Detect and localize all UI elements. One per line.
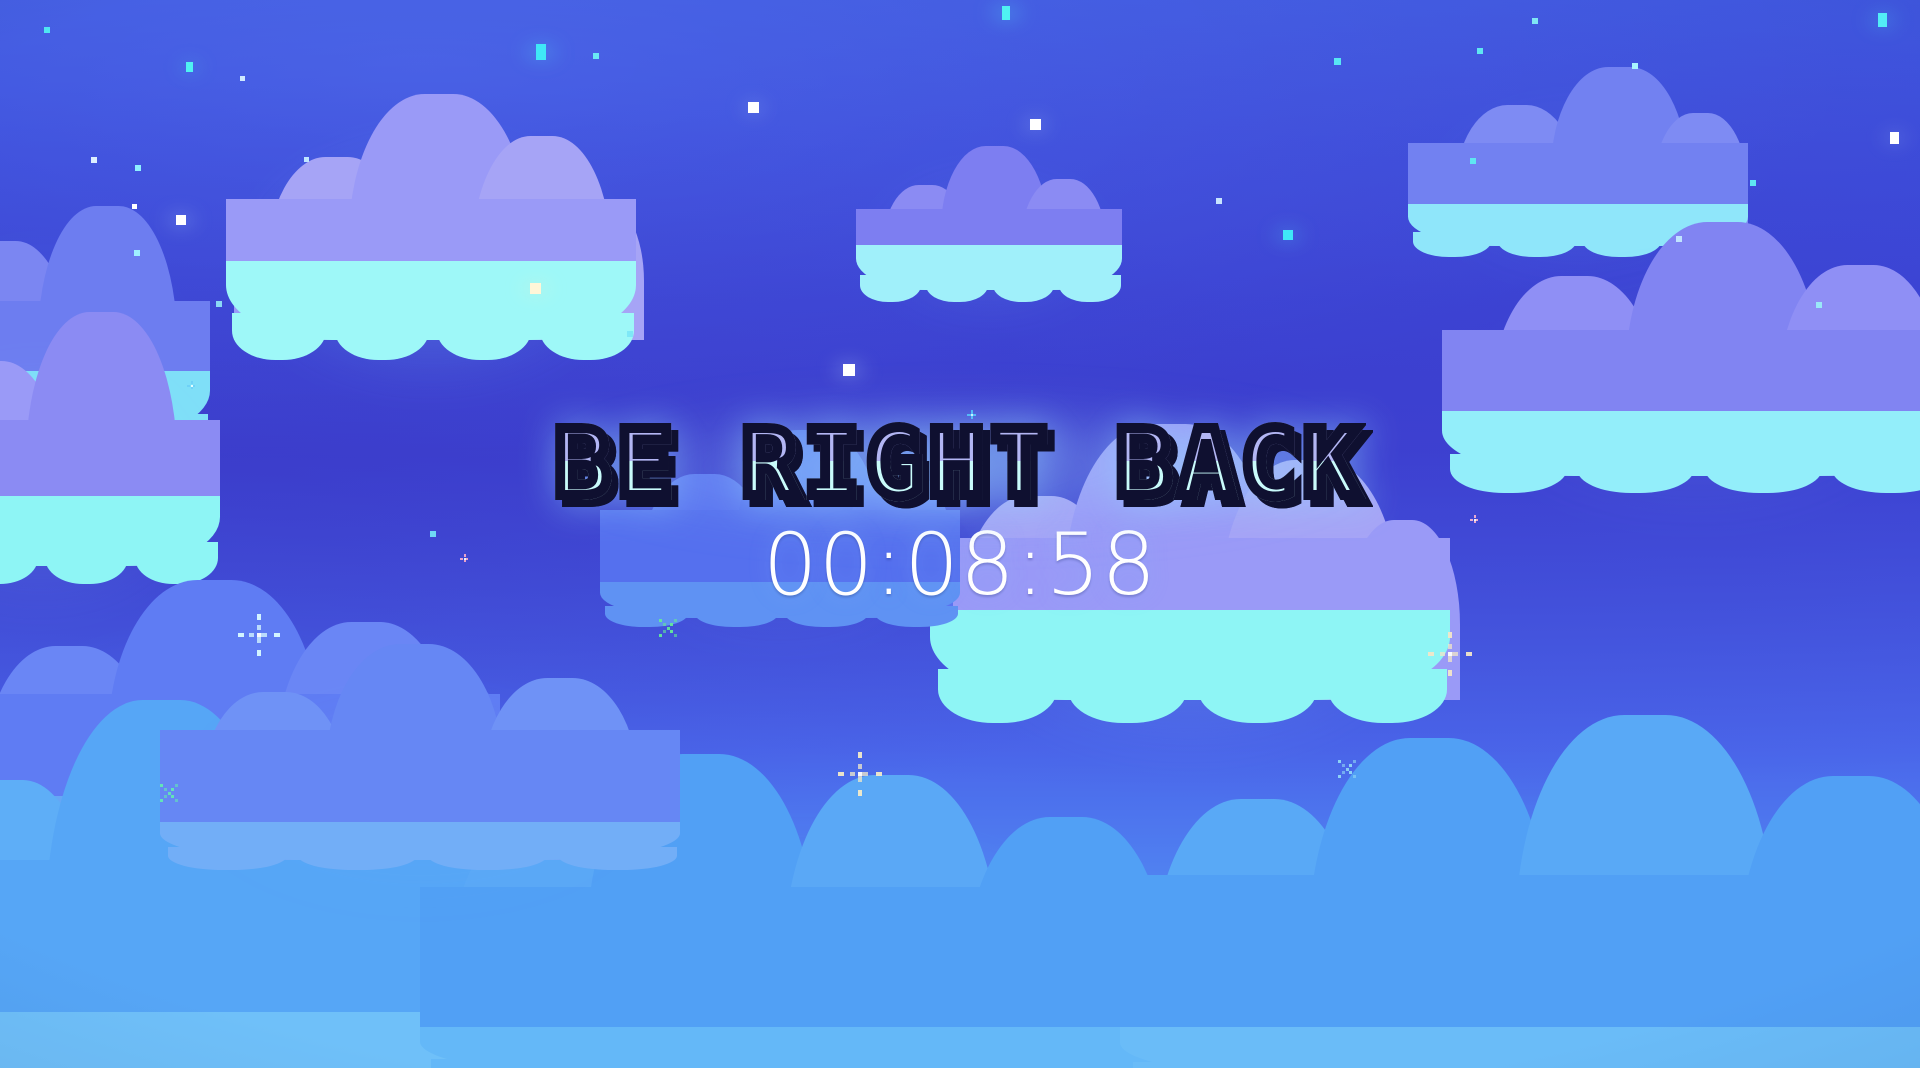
cloud-slab	[856, 209, 1122, 245]
star-icon	[240, 76, 245, 81]
star-core	[430, 531, 436, 537]
sparkle-pixel	[858, 790, 862, 796]
cloud-underside-bump	[1348, 1062, 1546, 1068]
cloud-body	[226, 78, 636, 340]
sparkle-pixel	[858, 772, 862, 776]
star-core	[843, 364, 855, 376]
star-core	[1283, 230, 1293, 240]
cloud-body	[930, 400, 1450, 700]
star-core	[627, 331, 633, 337]
sparkle-pixel	[257, 614, 261, 620]
sparkle-x-icon	[150, 774, 188, 812]
star-icon	[1002, 6, 1010, 20]
cloud-underside-bump	[50, 1054, 197, 1068]
star-core	[1890, 132, 1899, 144]
sparkle-pixel	[670, 630, 673, 633]
sparkle-pixel	[168, 792, 171, 795]
sparkle-pixel	[663, 630, 666, 633]
star-icon	[1878, 13, 1887, 27]
star-icon	[627, 331, 633, 337]
star-icon	[1816, 302, 1822, 308]
star-core	[530, 283, 541, 294]
cloud-mid-band-left	[160, 620, 680, 860]
cloud-body	[1120, 700, 1920, 1068]
star-core	[1030, 119, 1041, 130]
cloud-slab	[1120, 875, 1920, 1027]
star-icon	[216, 301, 222, 307]
sparkle-pixel	[257, 625, 261, 630]
star-core	[44, 27, 50, 33]
star-icon	[1676, 236, 1682, 242]
sparkle-pixel	[465, 558, 468, 560]
star-icon	[1632, 63, 1638, 69]
cloud-bottom-right	[1120, 700, 1920, 1068]
star-icon	[536, 44, 546, 60]
cloud-slab	[226, 199, 636, 262]
cloud-underside	[1120, 1027, 1920, 1068]
star-icon	[135, 165, 141, 171]
sparkle-pixel	[464, 559, 466, 562]
cloud-underside	[856, 245, 1122, 290]
star-core	[1002, 6, 1010, 20]
sparkle-pixel	[175, 799, 178, 802]
sparkle-pixel	[238, 633, 244, 637]
sparkle-pixel	[1346, 768, 1349, 771]
star-core	[1477, 48, 1483, 54]
sparkle-pixel	[1349, 764, 1352, 767]
sparkle-pixel	[257, 633, 261, 637]
star-icon	[1477, 48, 1483, 54]
star-core	[1470, 158, 1476, 164]
sparkle-pixel	[1474, 520, 1476, 523]
sparkle-pixel	[1448, 670, 1452, 676]
star-icon	[91, 157, 97, 163]
cloud-slab	[600, 510, 960, 582]
sparkle-x-icon	[650, 610, 686, 646]
sparkle-pixel	[670, 623, 673, 626]
cloud-far-right-mid	[1442, 206, 1920, 476]
sparkle-pixel	[850, 772, 855, 776]
sparkle-pixel	[175, 784, 178, 787]
sparkle-pixel	[1452, 652, 1457, 656]
sparkle-pixel	[261, 633, 266, 637]
sparkle-pixel	[164, 788, 167, 791]
star-core	[304, 157, 309, 162]
sparkle-plus-icon	[838, 752, 882, 796]
star-core	[176, 215, 186, 225]
cloud-body	[600, 418, 960, 618]
cloud-underside	[160, 822, 680, 860]
star-core	[1676, 236, 1682, 242]
star-core	[134, 250, 140, 256]
sparkle-pixel	[171, 788, 174, 791]
star-core	[1632, 63, 1638, 69]
cloud-body	[160, 620, 680, 860]
star-icon	[1030, 119, 1041, 130]
sparkle-pixel	[1338, 760, 1341, 763]
sparkle-plus-icon	[238, 614, 280, 656]
cloud-underside	[1442, 411, 1920, 476]
sparkle-plus-icon	[1428, 632, 1472, 676]
sparkle-pixel	[257, 637, 261, 642]
star-icon	[530, 283, 541, 294]
sparkle-pixel	[171, 795, 174, 798]
sparkle-pixel	[1342, 771, 1345, 774]
star-icon	[1750, 180, 1756, 186]
sparkle-pixel	[663, 623, 666, 626]
cloud-slab	[0, 420, 220, 496]
sparkle-pixel	[1440, 652, 1445, 656]
cloud-body	[1442, 206, 1920, 476]
star-core	[186, 62, 193, 72]
cloud-underside-bump	[431, 1059, 606, 1068]
star-icon	[304, 157, 309, 162]
cloud-underside-bump	[1778, 1062, 1920, 1068]
cloud-underside-bump	[926, 275, 987, 302]
sparkle-pixel	[249, 633, 254, 637]
star-icon	[593, 53, 599, 59]
star-icon	[843, 364, 855, 376]
star-core	[1334, 58, 1341, 65]
sparkle-pixel	[1353, 760, 1356, 763]
sparkle-pixel	[971, 416, 973, 419]
sparkle-pixel	[160, 799, 163, 802]
sparkle-pixel	[1349, 771, 1352, 774]
star-core	[1750, 180, 1756, 186]
cloud-underside-bump	[0, 1054, 37, 1068]
sparkle-pixel	[659, 619, 662, 622]
cloud-slab	[1442, 330, 1920, 411]
star-icon	[748, 102, 759, 113]
cloud-body	[0, 296, 220, 566]
sparkle-pixel	[191, 385, 193, 387]
cloud-underside	[420, 1027, 1180, 1068]
cloud-top-right-small	[856, 140, 1122, 290]
sparkle-x-icon	[1330, 752, 1364, 786]
cloud-center-right-big	[930, 400, 1450, 700]
sparkle-pixel	[674, 634, 677, 637]
sparkle-pixel	[1466, 652, 1472, 656]
sparkle-pixel	[164, 795, 167, 798]
sparkle-pixel	[876, 772, 882, 776]
star-icon	[186, 62, 193, 72]
sparkle-pixel	[659, 634, 662, 637]
star-core	[91, 157, 97, 163]
sparkle-pixel	[858, 752, 862, 758]
star-core	[1878, 13, 1887, 27]
cloud-underside-bump	[1563, 1062, 1761, 1068]
cloud-underside	[226, 261, 636, 340]
sparkle-diamond-icon	[457, 551, 472, 566]
star-icon	[1470, 158, 1476, 164]
cloud-body	[856, 140, 1122, 290]
star-core	[132, 204, 137, 209]
sparkle-pixel	[1428, 652, 1434, 656]
sparkle-pixel	[667, 627, 670, 630]
star-icon	[1216, 198, 1222, 204]
sparkle-pixel	[257, 650, 261, 656]
sparkle-pixel	[858, 764, 862, 769]
sparkle-diamond-icon	[963, 406, 981, 424]
sparkle-pixel	[971, 414, 973, 416]
sparkle-pixel	[674, 619, 677, 622]
sparkle-diamond-icon	[1467, 512, 1482, 527]
cloud-underside-bump	[1059, 275, 1120, 302]
star-icon	[176, 215, 186, 225]
sparkle-pixel	[858, 776, 862, 781]
sparkle-pixel	[1448, 632, 1452, 638]
star-core	[1532, 18, 1538, 24]
star-core	[748, 102, 759, 113]
sparkle-pixel	[1448, 652, 1452, 656]
sparkle-pixel	[192, 385, 195, 387]
sparkle-pixel	[1353, 775, 1356, 778]
cloud-left-mid	[0, 296, 220, 566]
sparkle-pixel	[1342, 764, 1345, 767]
sparkle-pixel	[160, 784, 163, 787]
star-core	[536, 44, 546, 60]
cloud-underside-bump	[811, 1059, 986, 1068]
sparkle-pixel	[1338, 775, 1341, 778]
star-core	[1816, 302, 1822, 308]
brb-overlay-stage: BE RIGHT BACK 00:08:58	[0, 0, 1920, 1068]
star-icon	[1532, 18, 1538, 24]
star-icon	[132, 204, 137, 209]
star-icon	[1283, 230, 1293, 240]
star-core	[135, 165, 141, 171]
star-icon	[1890, 132, 1899, 144]
cloud-underside-bump	[210, 1054, 357, 1068]
sparkle-diamond-icon	[184, 378, 199, 393]
star-core	[1216, 198, 1222, 204]
cloud-underside-bump	[1133, 1062, 1331, 1068]
sparkle-pixel	[838, 772, 844, 776]
cloud-slab	[420, 887, 1180, 1027]
cloud-underside-bump	[621, 1059, 796, 1068]
star-core	[240, 76, 245, 81]
star-core	[216, 301, 222, 307]
cloud-top-left-big	[226, 78, 636, 340]
sparkle-pixel	[973, 414, 976, 416]
sparkle-pixel	[464, 558, 466, 560]
cloud-slab	[930, 538, 1450, 610]
star-icon	[430, 531, 436, 537]
sparkle-pixel	[862, 772, 867, 776]
sparkle-pixel	[1474, 519, 1476, 521]
star-icon	[1334, 58, 1341, 65]
star-core	[593, 53, 599, 59]
sparkle-pixel	[274, 633, 280, 637]
sparkle-pixel	[1448, 644, 1452, 649]
cloud-behind-text	[600, 418, 960, 618]
cloud-slab	[160, 730, 680, 821]
star-icon	[134, 250, 140, 256]
sparkle-pixel	[1448, 656, 1452, 661]
sparkle-pixel	[1475, 519, 1478, 521]
sparkle-pixel	[191, 386, 193, 389]
star-icon	[44, 27, 50, 33]
